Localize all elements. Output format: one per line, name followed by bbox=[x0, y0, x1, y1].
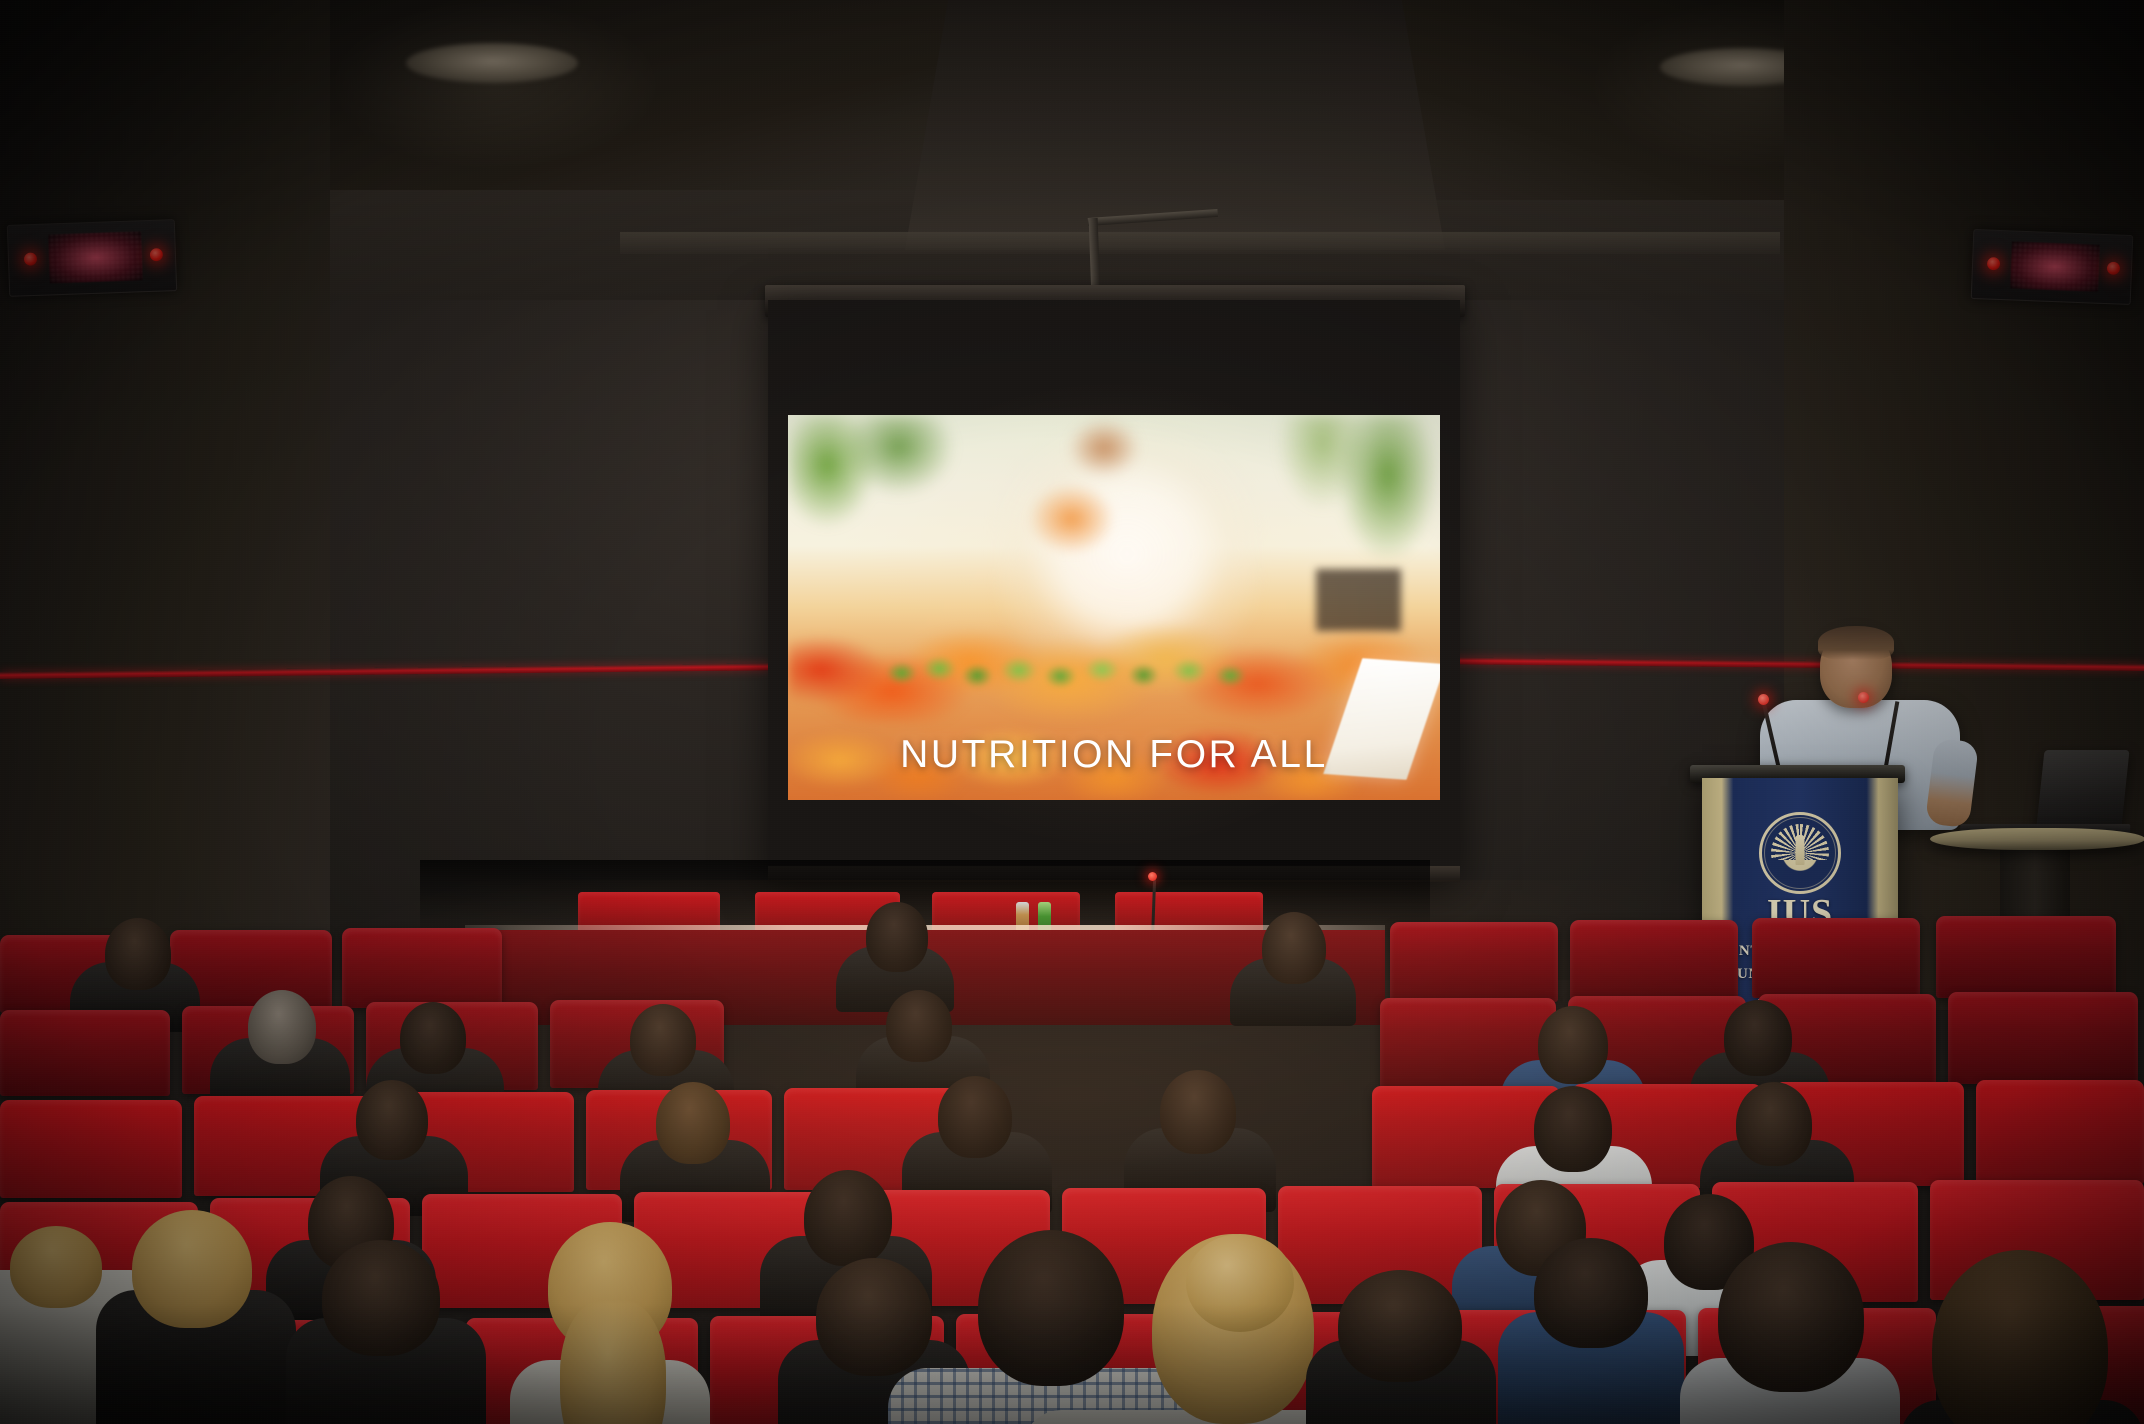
slide-title-text: NUTRITION FOR ALL bbox=[788, 733, 1440, 777]
seat[interactable] bbox=[1752, 918, 1920, 998]
audience-head bbox=[400, 1002, 466, 1074]
audience-head bbox=[630, 1004, 696, 1076]
seat[interactable] bbox=[1948, 992, 2138, 1084]
audience-head bbox=[132, 1210, 252, 1328]
presenter-hair bbox=[1818, 626, 1894, 660]
led-indicator-icon-mic-right bbox=[1858, 692, 1869, 703]
audience-head bbox=[1160, 1070, 1236, 1154]
audience-ponytail bbox=[560, 1300, 666, 1424]
loudspeaker-icon-right bbox=[1971, 229, 2134, 305]
led-indicator-icon-mic-left bbox=[1758, 694, 1769, 705]
led-indicator-icon-stage-mic bbox=[1148, 872, 1157, 881]
audience-head bbox=[886, 990, 952, 1062]
audience-head bbox=[248, 990, 316, 1064]
seat[interactable] bbox=[1390, 922, 1558, 1002]
seat[interactable] bbox=[1976, 1080, 2144, 1184]
ceiling-beam bbox=[620, 232, 1780, 254]
audience-head bbox=[656, 1082, 730, 1164]
audience-head bbox=[1338, 1270, 1462, 1382]
led-indicator-icon-left-b bbox=[150, 248, 163, 261]
slide-vendor-bag bbox=[1029, 484, 1114, 553]
seat[interactable] bbox=[342, 928, 502, 1008]
audience-head bbox=[356, 1080, 428, 1160]
audience-head bbox=[866, 902, 928, 972]
seat[interactable] bbox=[0, 1100, 182, 1198]
seat[interactable] bbox=[0, 1010, 170, 1096]
projection-screen: NUTRITION FOR ALL bbox=[768, 300, 1460, 880]
audience-head bbox=[938, 1076, 1012, 1158]
led-indicator-icon-left-a bbox=[24, 252, 37, 265]
seat[interactable] bbox=[1936, 916, 2116, 998]
speaker-grille-left bbox=[48, 231, 143, 283]
seat[interactable] bbox=[1570, 920, 1738, 1000]
left-wall bbox=[0, 0, 330, 1000]
speaker-grille-right bbox=[2010, 241, 2100, 292]
audience-head bbox=[978, 1230, 1124, 1386]
ceiling-light-glow-left bbox=[330, 0, 660, 170]
audience-seating bbox=[0, 940, 2144, 1424]
audience-head bbox=[1262, 912, 1326, 984]
audience-head bbox=[1534, 1086, 1612, 1172]
slide-vendor-head bbox=[1068, 419, 1140, 477]
audience-head bbox=[10, 1226, 102, 1308]
led-indicator-icon-right-a bbox=[1987, 257, 2000, 270]
audience-head bbox=[105, 918, 171, 990]
audience-head bbox=[322, 1240, 440, 1356]
loudspeaker-icon-left bbox=[7, 219, 177, 297]
audience-head bbox=[1534, 1238, 1648, 1348]
slide-image: NUTRITION FOR ALL bbox=[788, 415, 1440, 800]
audience-head bbox=[804, 1170, 892, 1266]
audience-hair-bun bbox=[1186, 1234, 1294, 1332]
slide-green-peppers-row bbox=[879, 646, 1257, 700]
audience-head bbox=[1736, 1082, 1812, 1166]
led-indicator-icon-right-b bbox=[2107, 261, 2120, 274]
audience-head bbox=[1724, 1000, 1792, 1076]
audience-head bbox=[1718, 1242, 1864, 1392]
seal-ring bbox=[1764, 817, 1836, 889]
university-seal-icon bbox=[1759, 812, 1841, 894]
audience-head bbox=[1538, 1006, 1608, 1084]
ceiling-light-left bbox=[406, 43, 578, 83]
side-table-top bbox=[1930, 828, 2144, 850]
audience-head bbox=[816, 1258, 932, 1376]
auditorium-scene: PROJECTOR NUTRITION FOR ALL bbox=[0, 0, 2144, 1424]
